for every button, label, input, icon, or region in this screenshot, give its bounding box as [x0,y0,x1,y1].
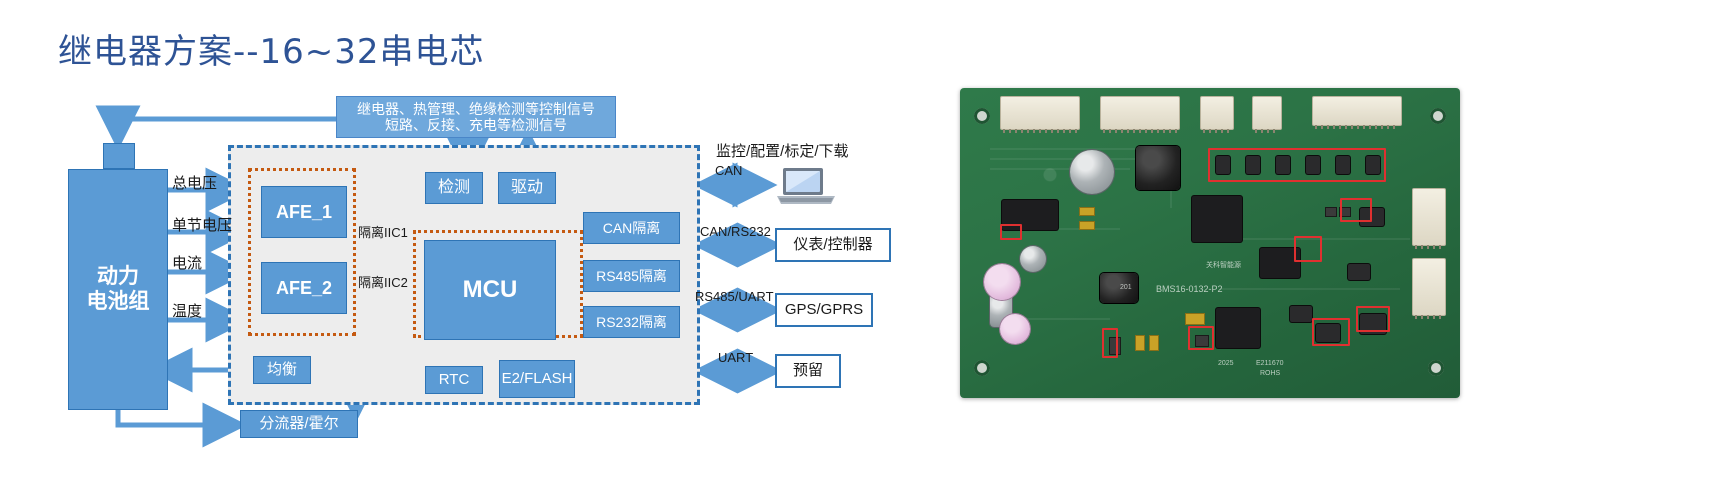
pcb-photo-panel: BMS16-0132-P2 关科智能源 2025 E211670 ROHS 20… [915,0,1717,486]
slide-canvas: 继电器方案--16~32串电芯 [0,0,1717,486]
highlight-diode-wsr [1102,328,1118,358]
mcu-block: MCU [424,240,556,340]
reserved-block: 预留 [775,354,841,388]
afe-2-block: AFE_2 [261,262,347,314]
bus-label-rs485-uart: RS485/UART [695,289,774,304]
e2flash-block: E2/FLASH [499,360,575,398]
highlight-bav21w [1340,198,1372,222]
signal-label-temperature: 温度 [172,300,202,321]
highlight-diode-wfr [1000,224,1022,240]
silk-cert: E211670 [1256,360,1284,367]
balancing-block: 均衡 [253,356,311,384]
control-banner-line2: 短路、反接、充电等检测信号 [385,117,567,133]
rs485-isolation-block: RS485隔离 [583,260,680,292]
can-isolation-block: CAN隔离 [583,212,680,244]
battery-pack-line2: 电池组 [87,290,150,314]
afe-1-block: AFE_1 [261,186,347,238]
highlight-tvs [1294,236,1322,262]
highlight-can-chip [1312,318,1350,346]
detect-block: 检测 [425,172,483,204]
battery-pack: 动力 电池组 [68,169,168,410]
battery-pack-line1: 动力 [97,265,139,289]
iic2-label: 隔离IIC2 [358,272,408,291]
laptop-icon [775,166,837,208]
pcb-board: BMS16-0132-P2 关科智能源 2025 E211670 ROHS 20… [960,88,1460,398]
gps-gprs-block: GPS/GPRS [775,293,873,327]
silk-company: 关科智能源 [1206,260,1241,270]
silk-rohs: ROHS [1260,370,1280,377]
rtc-block: RTC [425,366,483,394]
shunt-hall-block: 分流器/霍尔 [240,410,358,438]
laptop-caption: 监控/配置/标定/下载 [716,140,849,161]
control-signal-banner: 继电器、热管理、绝缘检测等控制信号 短路、反接、充电等检测信号 [336,96,616,138]
control-banner-line1: 继电器、热管理、绝缘检测等控制信号 [357,101,595,117]
iic1-label: 隔离IIC1 [358,222,408,241]
bus-label-can-rs232: CAN/RS232 [700,224,771,239]
silk-year: 2025 [1218,360,1234,367]
highlight-485-chip [1356,306,1390,332]
battery-terminal [103,143,135,169]
meter-controller-block: 仪表/控制器 [775,228,891,262]
highlight-transistor-row [1208,148,1386,182]
highlight-ldo [1188,326,1214,350]
signal-label-total-voltage: 总电压 [172,172,217,193]
bus-label-can: CAN [715,163,742,178]
silk-board-id: BMS16-0132-P2 [1156,284,1223,294]
drive-block: 驱动 [498,172,556,204]
silk-code: 201 [1120,284,1132,291]
bms-block-diagram: 动力 电池组 总电压 单节电压 电流 温度 继电器、热管理、绝缘检测等控制信号 … [0,0,915,486]
signal-label-current: 电流 [172,252,202,273]
signal-label-cell-voltage: 单节电压 [172,214,232,235]
bus-label-uart: UART [718,350,753,365]
rs232-isolation-block: RS232隔离 [583,306,680,338]
